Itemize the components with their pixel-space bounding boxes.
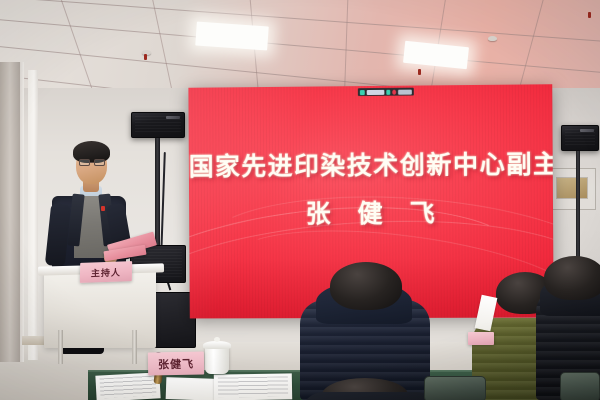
ceiling-grid-line bbox=[507, 0, 549, 96]
document-page[interactable] bbox=[214, 373, 292, 400]
ceiling-light-panel bbox=[195, 22, 268, 51]
sprinkler-head-icon bbox=[144, 54, 147, 60]
host-nameplate: 主持人 bbox=[80, 261, 132, 283]
ceiling-grid-line bbox=[148, 0, 182, 96]
smoke-detector-icon bbox=[488, 36, 497, 41]
slide-title-text: 国家先进印染技术创新中心副主任 bbox=[189, 145, 553, 184]
speaker-grille bbox=[565, 129, 595, 147]
document-text-lines bbox=[100, 376, 157, 399]
teacup-lid bbox=[203, 341, 231, 349]
document-page[interactable] bbox=[95, 372, 160, 400]
podium-leg bbox=[132, 330, 137, 364]
teacup-knob bbox=[214, 337, 220, 342]
teacup bbox=[205, 346, 229, 374]
status-text-chip bbox=[398, 89, 412, 94]
guest-nameplate: 张健飞 bbox=[148, 352, 204, 376]
screen-status-overlay[interactable] bbox=[358, 88, 414, 96]
eyeglasses-icon bbox=[79, 159, 90, 166]
ceiling bbox=[0, 0, 600, 96]
slide-name-text: 张 健 飞 bbox=[189, 193, 553, 231]
podium-leg bbox=[58, 330, 63, 364]
status-indicator-icon bbox=[386, 89, 390, 94]
eyeglasses-bridge bbox=[90, 162, 94, 163]
sprinkler-head-icon bbox=[588, 12, 591, 18]
status-text-chip bbox=[367, 89, 385, 94]
speaker-stand-pole bbox=[576, 151, 580, 271]
ceiling-light-panel bbox=[403, 41, 469, 70]
record-dot-icon bbox=[392, 89, 396, 94]
document-text-lines bbox=[218, 376, 288, 397]
wall-plaque bbox=[556, 177, 588, 199]
sprinkler-head-icon bbox=[418, 69, 421, 75]
speaker-grille bbox=[135, 116, 181, 134]
photo-scene: 国家先进印染技术创新中心副主任 张 健 飞 bbox=[0, 0, 600, 400]
right-speaker-cabinet bbox=[561, 125, 599, 151]
ceiling-grid-line bbox=[0, 14, 600, 81]
wall-pillar bbox=[0, 62, 22, 362]
chair-back[interactable] bbox=[424, 376, 486, 400]
ceiling-grid-line bbox=[0, 0, 600, 49]
document-page[interactable] bbox=[166, 377, 221, 400]
audience-hair bbox=[330, 262, 402, 310]
left-speaker-cabinet bbox=[131, 112, 185, 138]
door-jamb bbox=[28, 70, 38, 360]
chair-back[interactable] bbox=[560, 372, 600, 400]
audience-hair bbox=[544, 256, 600, 300]
pillar-edge bbox=[20, 62, 24, 362]
audience-nameplate bbox=[468, 332, 494, 345]
eyeglasses-icon bbox=[94, 159, 105, 166]
signal-indicator-icon bbox=[360, 90, 365, 95]
lapel-badge bbox=[101, 206, 105, 211]
audience-shoulders bbox=[300, 392, 440, 400]
